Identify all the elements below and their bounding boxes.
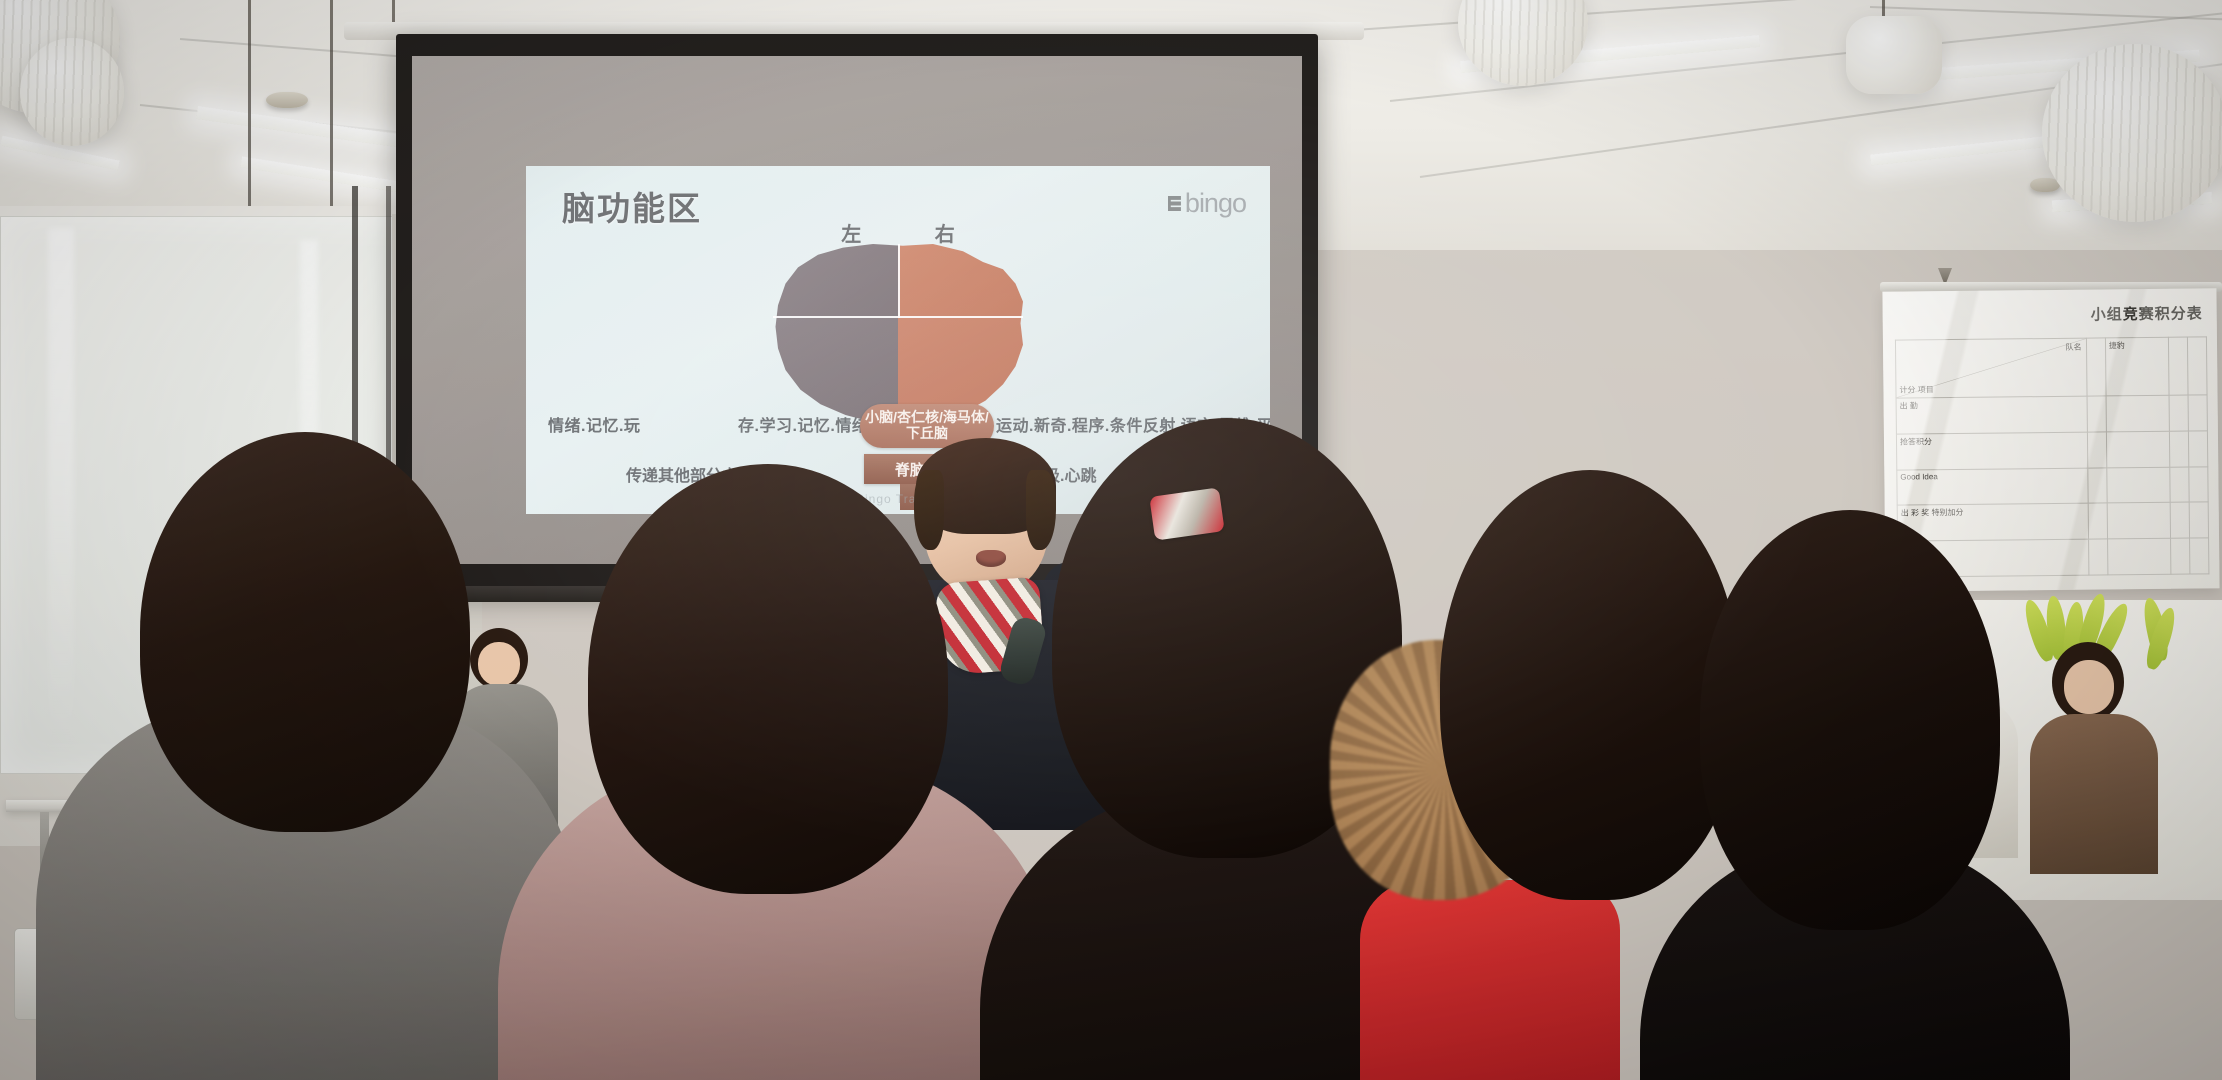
left-functions-label: 情绪.记忆.玩 — [548, 412, 640, 436]
bingo-logo-text: bingo — [1185, 188, 1246, 219]
presenter-hair-side — [1026, 470, 1056, 550]
team-name-2: 捷豹 — [2109, 341, 2125, 350]
audience-head — [140, 432, 470, 832]
poster-cell — [2106, 431, 2169, 467]
bingo-logo: bingo — [1168, 188, 1246, 219]
audience-head — [1440, 470, 1740, 900]
team-column-3 — [2168, 337, 2188, 395]
poster-cell — [2107, 503, 2170, 539]
poster-cell — [2087, 468, 2107, 504]
hanging-rod — [248, 0, 251, 230]
table-row: 出 勤 — [1896, 395, 2207, 434]
table-header-corner: 队名 计分 项目 — [1895, 338, 2086, 398]
poster-header-team: 队名 — [2066, 342, 2082, 353]
poster-cell — [2189, 467, 2209, 503]
team-column-1 — [2086, 338, 2106, 396]
poster-row-label: 出 彩 奖 特别加分 — [1897, 504, 2088, 542]
poster-cell — [2169, 395, 2189, 431]
audience-head — [588, 464, 948, 894]
poster-cell — [2169, 431, 2189, 467]
smoke-detector-icon — [266, 92, 308, 108]
poster-cell — [2107, 467, 2170, 503]
poster-title: 小组竞赛积分表 — [2091, 302, 2203, 324]
poster-cell — [2189, 502, 2209, 538]
paper-lantern — [20, 38, 124, 146]
paper-lantern — [2042, 44, 2222, 222]
presenter-mouth — [976, 550, 1006, 567]
table-row: 抢答积分 — [1896, 431, 2207, 470]
poster-row-label: 出 勤 — [1896, 396, 2087, 434]
audience-red-top — [1360, 880, 1620, 1080]
poster-cell — [2088, 503, 2108, 539]
poster-cell — [2106, 395, 2169, 431]
background-person-body — [2030, 714, 2158, 874]
team-column-2: 捷豹 — [2105, 337, 2169, 396]
hemisphere-labels: 左 右 — [526, 218, 1270, 247]
table-row: 出 彩 奖 特别加分 — [1897, 502, 2208, 541]
ceiling-light-fixture — [1846, 16, 1942, 94]
background-person-face — [2064, 660, 2114, 714]
presenter-hair-side — [914, 470, 944, 550]
poster-cell — [2087, 432, 2107, 468]
poster-cell — [2188, 395, 2208, 431]
brain-vertical-divider — [898, 244, 900, 318]
table-row: Good Idea — [1897, 467, 2208, 506]
brain-diagram — [773, 244, 1023, 424]
poster-cell — [2087, 396, 2107, 432]
whiteboard-glare — [48, 228, 74, 748]
poster-cell — [2169, 467, 2189, 503]
poster-score-table: 队名 计分 项目 捷豹 出 勤 抢答积分 Good Idea — [1895, 336, 2209, 577]
audience-head — [1700, 510, 2000, 930]
poster-row-label: Good Idea — [1897, 468, 2088, 506]
brain-quadrant-right-top — [898, 244, 1023, 316]
bingo-logo-mark-icon — [1168, 196, 1181, 211]
background-person-face — [478, 642, 520, 686]
poster-cell — [2170, 503, 2190, 539]
poster-cell — [2170, 538, 2190, 574]
poster-row-label: 抢答积分 — [1896, 432, 2087, 470]
poster-cell — [2088, 539, 2108, 575]
team-column-4 — [2187, 337, 2207, 395]
table-row: 队名 计分 项目 捷豹 — [1895, 337, 2207, 398]
poster-header-item: 计分 项目 — [1899, 385, 1933, 395]
poster-cell — [2189, 538, 2209, 574]
photo-scene: 脑功能区 bingo 左 右 — [0, 0, 2222, 1080]
poster-cell — [2188, 431, 2208, 467]
brain-quadrant-left-top — [773, 244, 898, 316]
poster-cell — [2107, 538, 2170, 574]
